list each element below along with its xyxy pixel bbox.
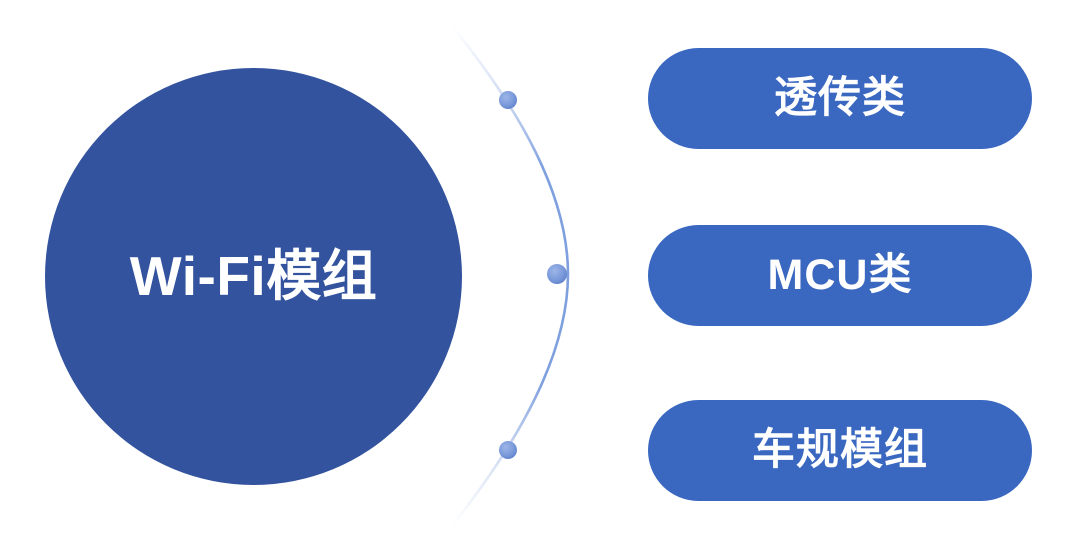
connector-dot-top[interactable] (499, 91, 517, 109)
hub-label: Wi-Fi模组 (130, 249, 377, 304)
connector-dot-middle[interactable] (547, 264, 567, 284)
diagram-canvas: Wi-Fi模组 透传类 MCU (0, 0, 1080, 542)
category-pill-automotive-grade[interactable]: 车规模组 (648, 400, 1032, 501)
hub-circle[interactable]: Wi-Fi模组 (45, 68, 462, 485)
category-pill-label: 透传类 (774, 77, 906, 120)
connector-arc (452, 26, 568, 526)
category-pill-label: MCU类 (768, 254, 913, 297)
category-pill-mcu[interactable]: MCU类 (648, 225, 1032, 326)
category-pill-transparent-transmission[interactable]: 透传类 (648, 48, 1032, 149)
connector-dot-bottom[interactable] (499, 441, 517, 459)
category-pill-label: 车规模组 (752, 429, 928, 472)
